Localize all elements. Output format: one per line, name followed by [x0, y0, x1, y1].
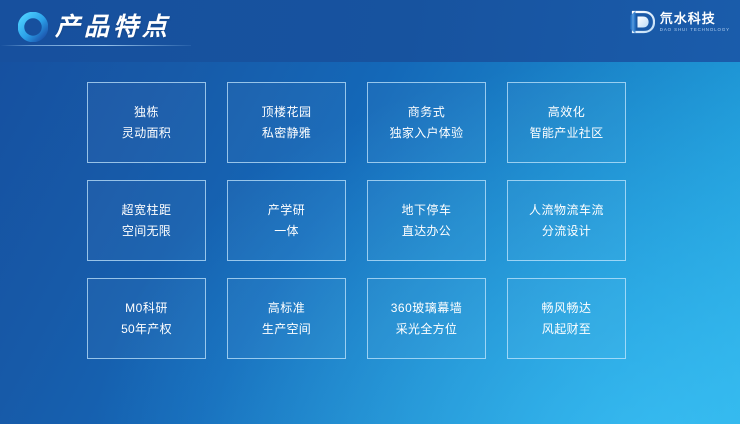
slide-header: 产品特点 氘水科技 DAO SHUI TECHNOLOGY — [0, 0, 740, 62]
card-line-1: 独栋 — [134, 102, 159, 123]
card-line-2: 50年产权 — [121, 319, 172, 340]
card-line-1: 人流物流车流 — [529, 200, 604, 221]
card-line-1: 360玻璃幕墙 — [391, 298, 463, 319]
card-line-2: 灵动面积 — [122, 123, 171, 144]
card-line-2: 采光全方位 — [396, 319, 458, 340]
feature-card[interactable]: 顶楼花园 私密静雅 — [227, 82, 346, 163]
brand-text: 氘水科技 DAO SHUI TECHNOLOGY — [660, 9, 730, 36]
card-line-1: 产学研 — [268, 200, 306, 221]
feature-card[interactable]: 高效化 智能产业社区 — [507, 82, 626, 163]
card-line-2: 生产空间 — [262, 319, 311, 340]
card-line-2: 风起财至 — [542, 319, 591, 340]
card-line-2: 一体 — [274, 221, 299, 242]
card-line-1: 超宽柱距 — [121, 200, 171, 221]
feature-card[interactable]: 360玻璃幕墙 采光全方位 — [367, 278, 486, 359]
feature-card[interactable]: 人流物流车流 分流设计 — [507, 180, 626, 261]
feature-card[interactable]: 独栋 灵动面积 — [87, 82, 206, 163]
feature-card[interactable]: 畅风畅达 风起财至 — [507, 278, 626, 359]
card-line-1: 高标准 — [268, 298, 306, 319]
card-line-2: 直达办公 — [402, 221, 451, 242]
card-line-2: 私密静雅 — [262, 123, 311, 144]
card-line-2: 智能产业社区 — [530, 123, 604, 144]
feature-card-grid: 独栋 灵动面积 顶楼花园 私密静雅 商务式 独家入户体验 高效化 智能产业社区 … — [87, 82, 626, 359]
feature-card[interactable]: 地下停车 直达办公 — [367, 180, 486, 261]
card-line-1: 商务式 — [408, 102, 446, 123]
card-line-1: 高效化 — [548, 102, 586, 123]
feature-card[interactable]: 商务式 独家入户体验 — [367, 82, 486, 163]
title-underline — [0, 45, 191, 46]
feature-card[interactable]: 产学研 一体 — [227, 180, 346, 261]
card-line-1: 地下停车 — [401, 200, 451, 221]
brand-logo: 氘水科技 DAO SHUI TECHNOLOGY — [629, 8, 730, 36]
card-line-1: 顶楼花园 — [261, 102, 311, 123]
brand-name-en: DAO SHUI TECHNOLOGY — [660, 26, 730, 34]
page-title: 产品特点 — [55, 12, 171, 43]
feature-card[interactable]: M0科研 50年产权 — [87, 278, 206, 359]
card-line-1: 畅风畅达 — [541, 298, 591, 319]
slide-root: 产品特点 氘水科技 DAO SHUI TECHNOLOGY — [0, 0, 740, 424]
card-line-1: M0科研 — [125, 298, 168, 319]
card-line-2: 分流设计 — [542, 221, 591, 242]
d-letter-logo-icon — [629, 9, 655, 35]
card-line-2: 空间无限 — [122, 221, 171, 242]
brand-name-cn: 氘水科技 — [660, 11, 730, 26]
card-line-2: 独家入户体验 — [390, 123, 464, 144]
feature-card[interactable]: 超宽柱距 空间无限 — [87, 180, 206, 261]
feature-card[interactable]: 高标准 生产空间 — [227, 278, 346, 359]
ring-icon — [18, 12, 48, 42]
